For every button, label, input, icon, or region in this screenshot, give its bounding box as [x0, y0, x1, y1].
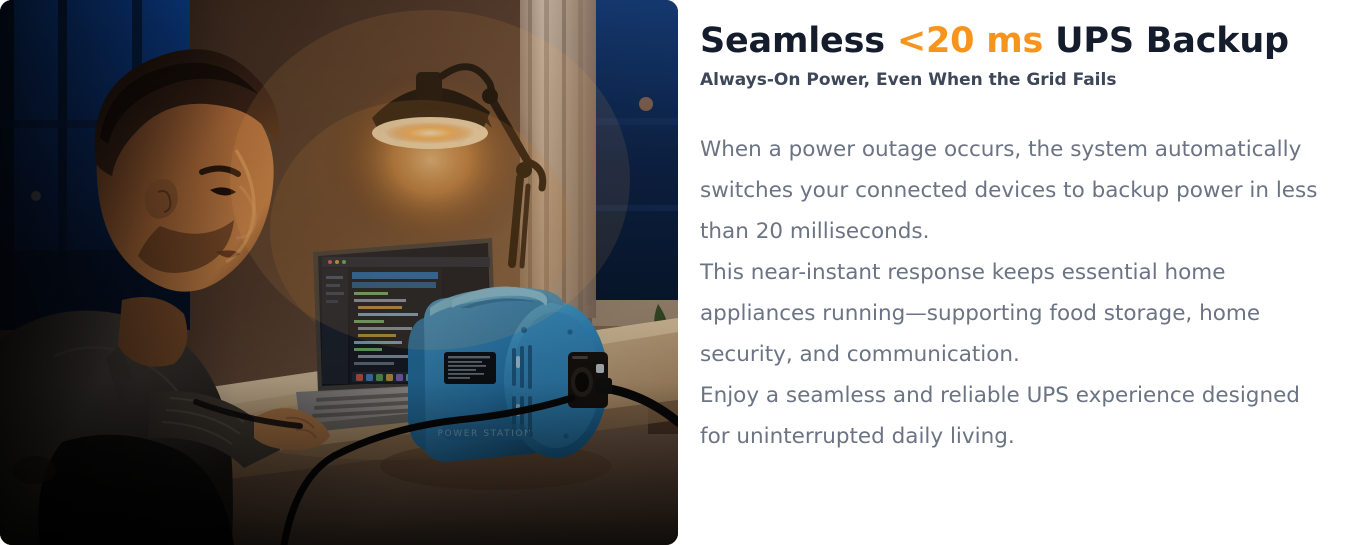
copy-panel: Seamless <20 ms UPS Backup Always-On Pow… — [678, 0, 1357, 545]
photo-panel: POWER STATION — [0, 0, 678, 545]
lamp-ambient-glow — [230, 10, 630, 350]
description-paragraph-2: This near-instant response keeps essenti… — [700, 252, 1330, 375]
feature-panel: POWER STATION — [0, 0, 1357, 545]
description-paragraph-3: Enjoy a seamless and reliable UPS experi… — [700, 375, 1330, 457]
headline-suffix: UPS Backup — [1043, 21, 1289, 61]
scene-photo: POWER STATION — [0, 0, 678, 545]
description-paragraph-1: When a power outage occurs, the system a… — [700, 129, 1330, 252]
page-subtitle: Always-On Power, Even When the Grid Fail… — [700, 69, 1330, 91]
headline-accent-value: <20 ms — [897, 21, 1043, 61]
headline-prefix: Seamless — [700, 21, 897, 61]
description-block: When a power outage occurs, the system a… — [700, 129, 1330, 457]
page-title: Seamless <20 ms UPS Backup — [700, 22, 1330, 61]
